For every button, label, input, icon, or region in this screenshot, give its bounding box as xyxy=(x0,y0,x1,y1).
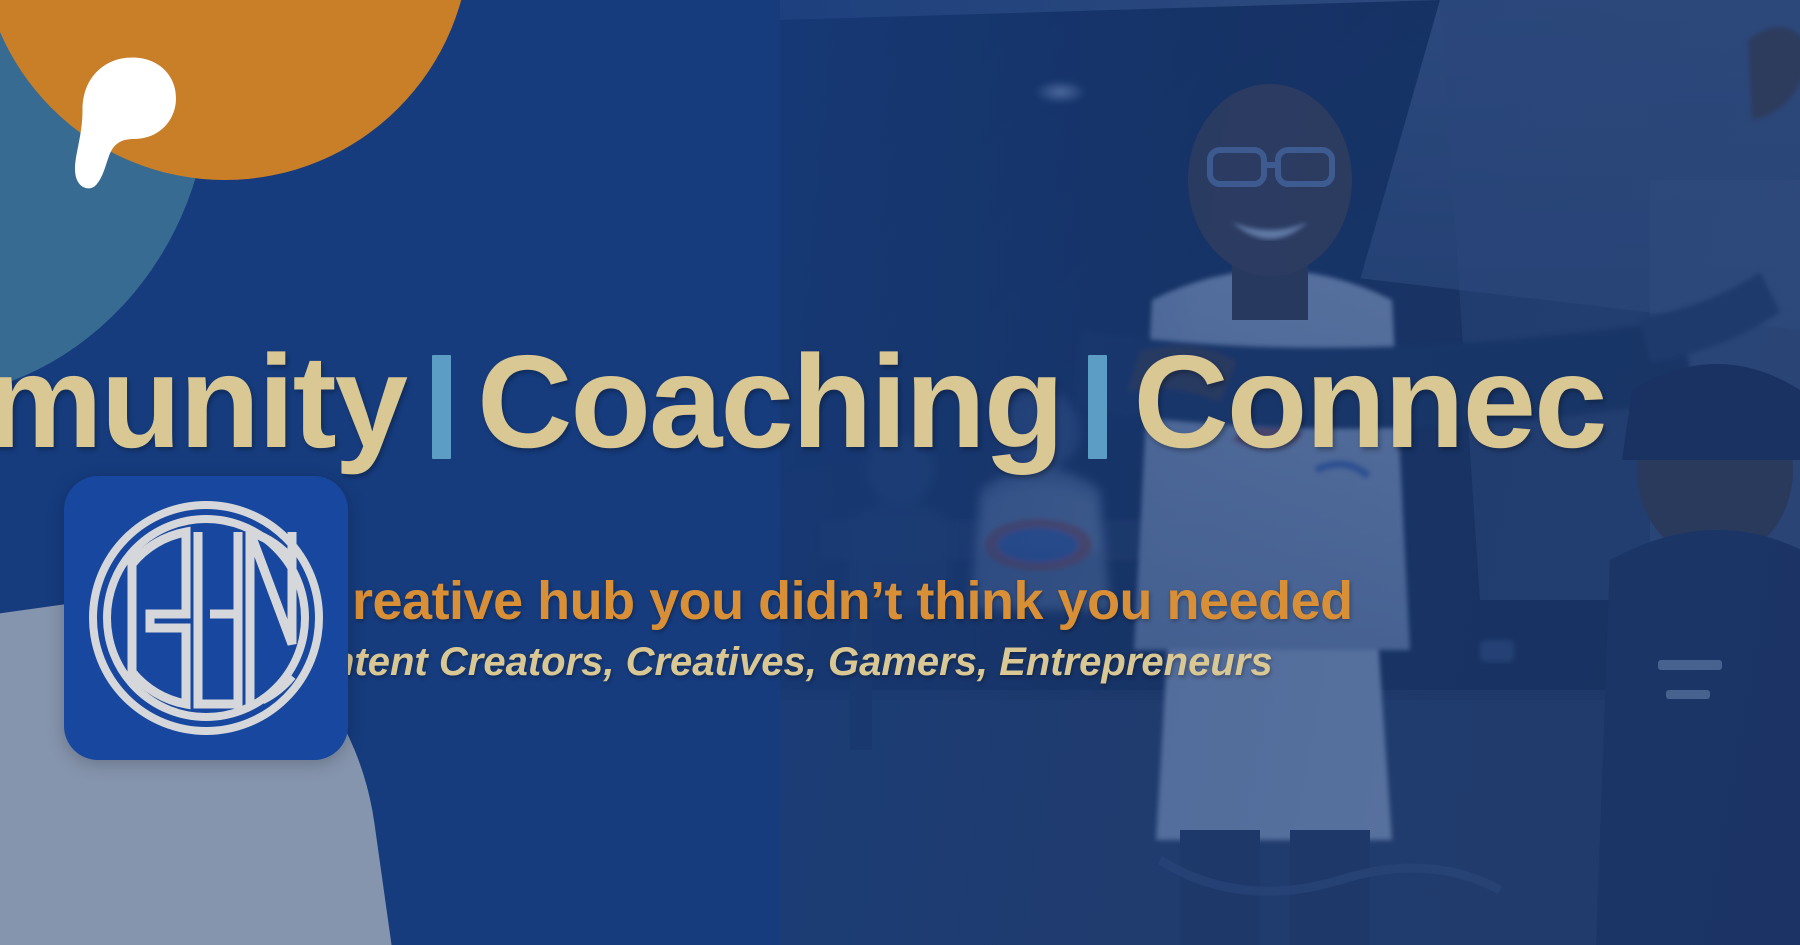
headline-separator-bar-1 xyxy=(432,355,451,459)
headline-part-community: mmunity xyxy=(0,328,406,475)
hero-headline: mmunityCoachingConnec xyxy=(0,336,1800,468)
avatar[interactable] xyxy=(64,476,348,760)
hero-tagline: reative hub you didn’t think you needed xyxy=(352,570,1353,632)
gray-blue-decorative-shape-2 xyxy=(0,745,310,945)
headline-separator-bar-2 xyxy=(1088,355,1107,459)
headline-part-connection: Connec xyxy=(1133,328,1605,475)
headline-part-coaching: Coaching xyxy=(477,328,1062,475)
hero-subtagline: ntent Creators, Creatives, Gamers, Entre… xyxy=(330,640,1273,685)
patreon-logo-icon xyxy=(72,55,184,190)
bgn-monogram-icon xyxy=(86,498,326,738)
creator-cover-banner: mmunityCoachingConnec reative hub you di… xyxy=(0,0,1800,945)
